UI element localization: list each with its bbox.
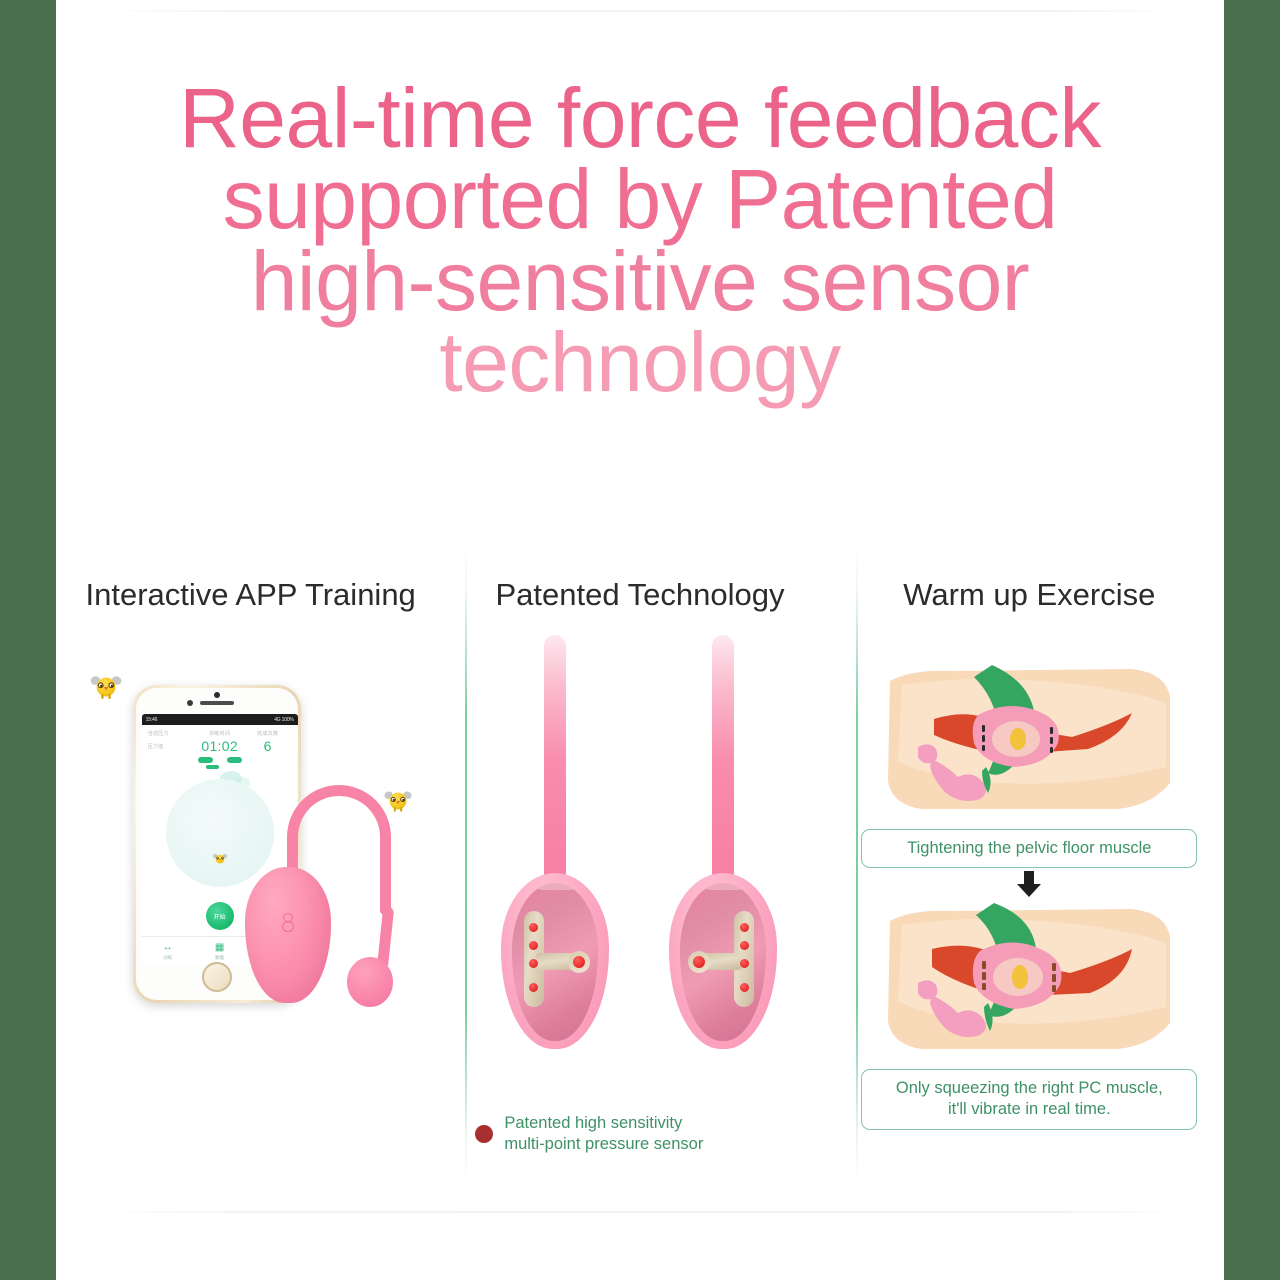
right-edge-band bbox=[1224, 0, 1280, 1280]
device-shell-right bbox=[669, 873, 777, 1049]
training-marker-icon bbox=[206, 765, 219, 769]
headline-line-3: high-sensitive sensor bbox=[56, 241, 1224, 322]
stat-duration: 训练时间 01:02 bbox=[196, 730, 244, 754]
bee-leg-right-icon bbox=[108, 694, 110, 699]
device-inner-right bbox=[680, 883, 766, 1041]
device-cap-right bbox=[702, 883, 746, 890]
instruction-box-tighten-text: Tightening the pelvic floor muscle bbox=[907, 839, 1151, 857]
caption-line-2: multi-point pressure sensor bbox=[504, 1134, 703, 1155]
device-stem-left bbox=[544, 635, 566, 899]
stat-duration-label: 训练时间 bbox=[196, 730, 244, 737]
column-interactive-app-training: Interactive APP Training bbox=[56, 545, 445, 1185]
pink-device-with-tail bbox=[241, 781, 416, 1011]
tab-data-label: 数据 bbox=[215, 955, 224, 961]
headline-line-1: Real-time force feedback bbox=[56, 78, 1224, 159]
anatomy-svg-contracted bbox=[882, 903, 1176, 1053]
caption-line-1: Patented high sensitivity bbox=[504, 1113, 703, 1134]
instruction-box-squeeze-line-2: it'll vibrate in real time. bbox=[868, 1099, 1190, 1120]
tab-training-label: 训练 bbox=[163, 955, 172, 961]
page-canvas: Real-time force feedback supported by Pa… bbox=[56, 0, 1224, 1280]
bee-mascot-secondary-icon bbox=[386, 791, 409, 812]
column-warm-up-exercise: Warm up Exercise bbox=[835, 545, 1224, 1185]
instruction-box-squeeze-line-1: Only squeezing the right PC muscle, bbox=[868, 1078, 1190, 1099]
app-start-button-label: 开始 bbox=[206, 902, 234, 930]
status-indicators: 4G 100% bbox=[274, 717, 293, 723]
bee-eye-left-icon bbox=[97, 682, 103, 688]
device-tail-ball bbox=[347, 957, 393, 1007]
column-body-3: Tightening the pelvic floor muscle bbox=[835, 635, 1224, 1185]
bee-beak-icon bbox=[103, 687, 108, 691]
bottom-hairline bbox=[100, 1211, 1180, 1213]
stat-count: 完成次数 6 bbox=[244, 730, 292, 754]
tab-training[interactable]: ↔ 训练 bbox=[142, 937, 194, 966]
chart-icon: ▦ bbox=[215, 943, 224, 953]
arrow-down-icon bbox=[1017, 871, 1041, 897]
headline-line-4: technology bbox=[56, 322, 1224, 403]
page-title: Real-time force feedback supported by Pa… bbox=[56, 78, 1224, 404]
anatomy-illustrations: Tightening the pelvic floor muscle bbox=[835, 635, 1224, 1185]
anatomy-svg-relaxed bbox=[882, 663, 1176, 813]
top-hairline bbox=[100, 10, 1180, 12]
phone-sensor-icon bbox=[214, 692, 220, 698]
stat-pressure-sublabel: 压力值 bbox=[148, 743, 196, 750]
stat-pressure: 当前压力 压力值 bbox=[148, 730, 196, 754]
headline-line-2: supported by Patented bbox=[56, 159, 1224, 240]
instruction-box-squeeze: Only squeezing the right PC muscle, it'l… bbox=[861, 1069, 1197, 1130]
sensor-device-right bbox=[663, 635, 783, 1055]
bee-mascot-in-app-icon bbox=[214, 854, 226, 865]
app-stats-row: 当前压力 压力值 训练时间 01:02 完成次数 bbox=[142, 725, 298, 754]
device-egg-body bbox=[245, 867, 331, 1003]
column-divider-1 bbox=[465, 545, 467, 1185]
stat-count-value: 6 bbox=[244, 738, 292, 754]
anatomy-illustration-relaxed bbox=[882, 663, 1176, 813]
phone-home-button[interactable] bbox=[202, 962, 232, 992]
column-title-3: Warm up Exercise bbox=[835, 577, 1224, 613]
caption-bullet-icon bbox=[475, 1125, 493, 1143]
phone-earpiece-icon bbox=[200, 701, 234, 705]
column-divider-2 bbox=[856, 545, 858, 1185]
bee-mascot-icon bbox=[93, 675, 119, 699]
status-time: 15:46 bbox=[146, 717, 158, 723]
instruction-box-tighten: Tightening the pelvic floor muscle bbox=[861, 829, 1197, 868]
app-start-button[interactable]: 开始 bbox=[206, 902, 234, 930]
patent-caption: Patented high sensitivity multi-point pr… bbox=[475, 1113, 805, 1155]
phone-camera-icon bbox=[187, 700, 193, 706]
app-status-bar: 15:46 4G 100% bbox=[142, 714, 298, 725]
feature-columns: Interactive APP Training bbox=[56, 545, 1224, 1185]
bee-eye-right-icon bbox=[108, 682, 114, 688]
caption-text-block: Patented high sensitivity multi-point pr… bbox=[504, 1113, 703, 1155]
column-body-1: 15:46 4G 100% 当前压力 压力值 训练时间 bbox=[56, 635, 445, 1185]
column-patented-technology: Patented Technology bbox=[445, 545, 834, 1185]
device-shell-left bbox=[501, 873, 609, 1049]
stat-count-label: 完成次数 bbox=[244, 730, 292, 737]
sensor-device-pair bbox=[445, 635, 834, 1105]
column-title-1: Interactive APP Training bbox=[56, 577, 445, 613]
device-stem-right bbox=[712, 635, 734, 899]
training-icon: ↔ bbox=[163, 943, 173, 953]
column-title-2: Patented Technology bbox=[445, 577, 834, 613]
phone-scene: 15:46 4G 100% 当前压力 压力值 训练时间 bbox=[91, 663, 421, 1103]
device-cap-left bbox=[534, 883, 578, 890]
sensor-device-left bbox=[495, 635, 615, 1055]
device-brand-logo-icon bbox=[281, 913, 295, 933]
stat-duration-value: 01:02 bbox=[196, 738, 244, 754]
device-inner-left bbox=[512, 883, 598, 1041]
left-edge-band bbox=[0, 0, 56, 1280]
stat-pressure-label: 当前压力 bbox=[148, 730, 196, 737]
column-body-2: Patented high sensitivity multi-point pr… bbox=[445, 635, 834, 1185]
anatomy-illustration-contracted bbox=[882, 903, 1176, 1053]
bee-leg-left-icon bbox=[101, 694, 103, 699]
